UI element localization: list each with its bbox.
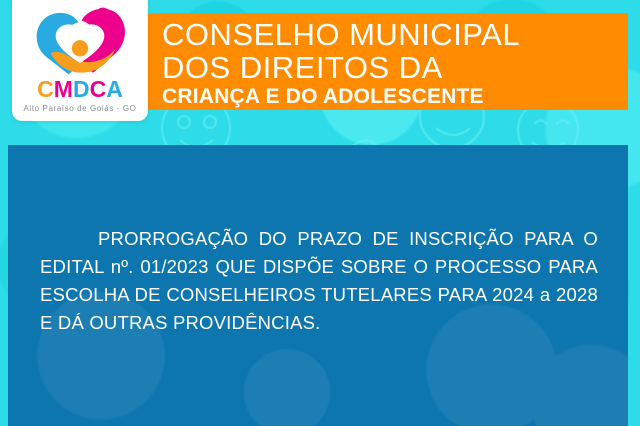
header-title-line1: CONSELHO MUNICIPAL: [162, 19, 628, 50]
content-panel: PRORROGAÇÃO DO PRAZO DE INSCRIÇÃO PARA O…: [8, 145, 628, 426]
header-title-line2: DOS DIREITOS DA: [162, 52, 628, 83]
header-subtitle-line3: CRIANÇA E DO ADOLESCENTE: [162, 86, 628, 107]
header-banner: CONSELHO MUNICIPAL DOS DIREITOS DA CRIAN…: [148, 13, 628, 110]
cmdca-logo-card: CMDCA Alto Paraíso de Goiás - GO: [12, 0, 148, 121]
cmdca-heart-logo-icon: [31, 6, 129, 76]
cmdca-acronym: CMDCA: [37, 78, 123, 101]
announcement-body-text: PRORROGAÇÃO DO PRAZO DE INSCRIÇÃO PARA O…: [40, 225, 598, 337]
cmdca-city-subtitle: Alto Paraíso de Goiás - GO: [24, 104, 137, 113]
poster-canvas: CONSELHO MUNICIPAL DOS DIREITOS DA CRIAN…: [0, 0, 640, 426]
